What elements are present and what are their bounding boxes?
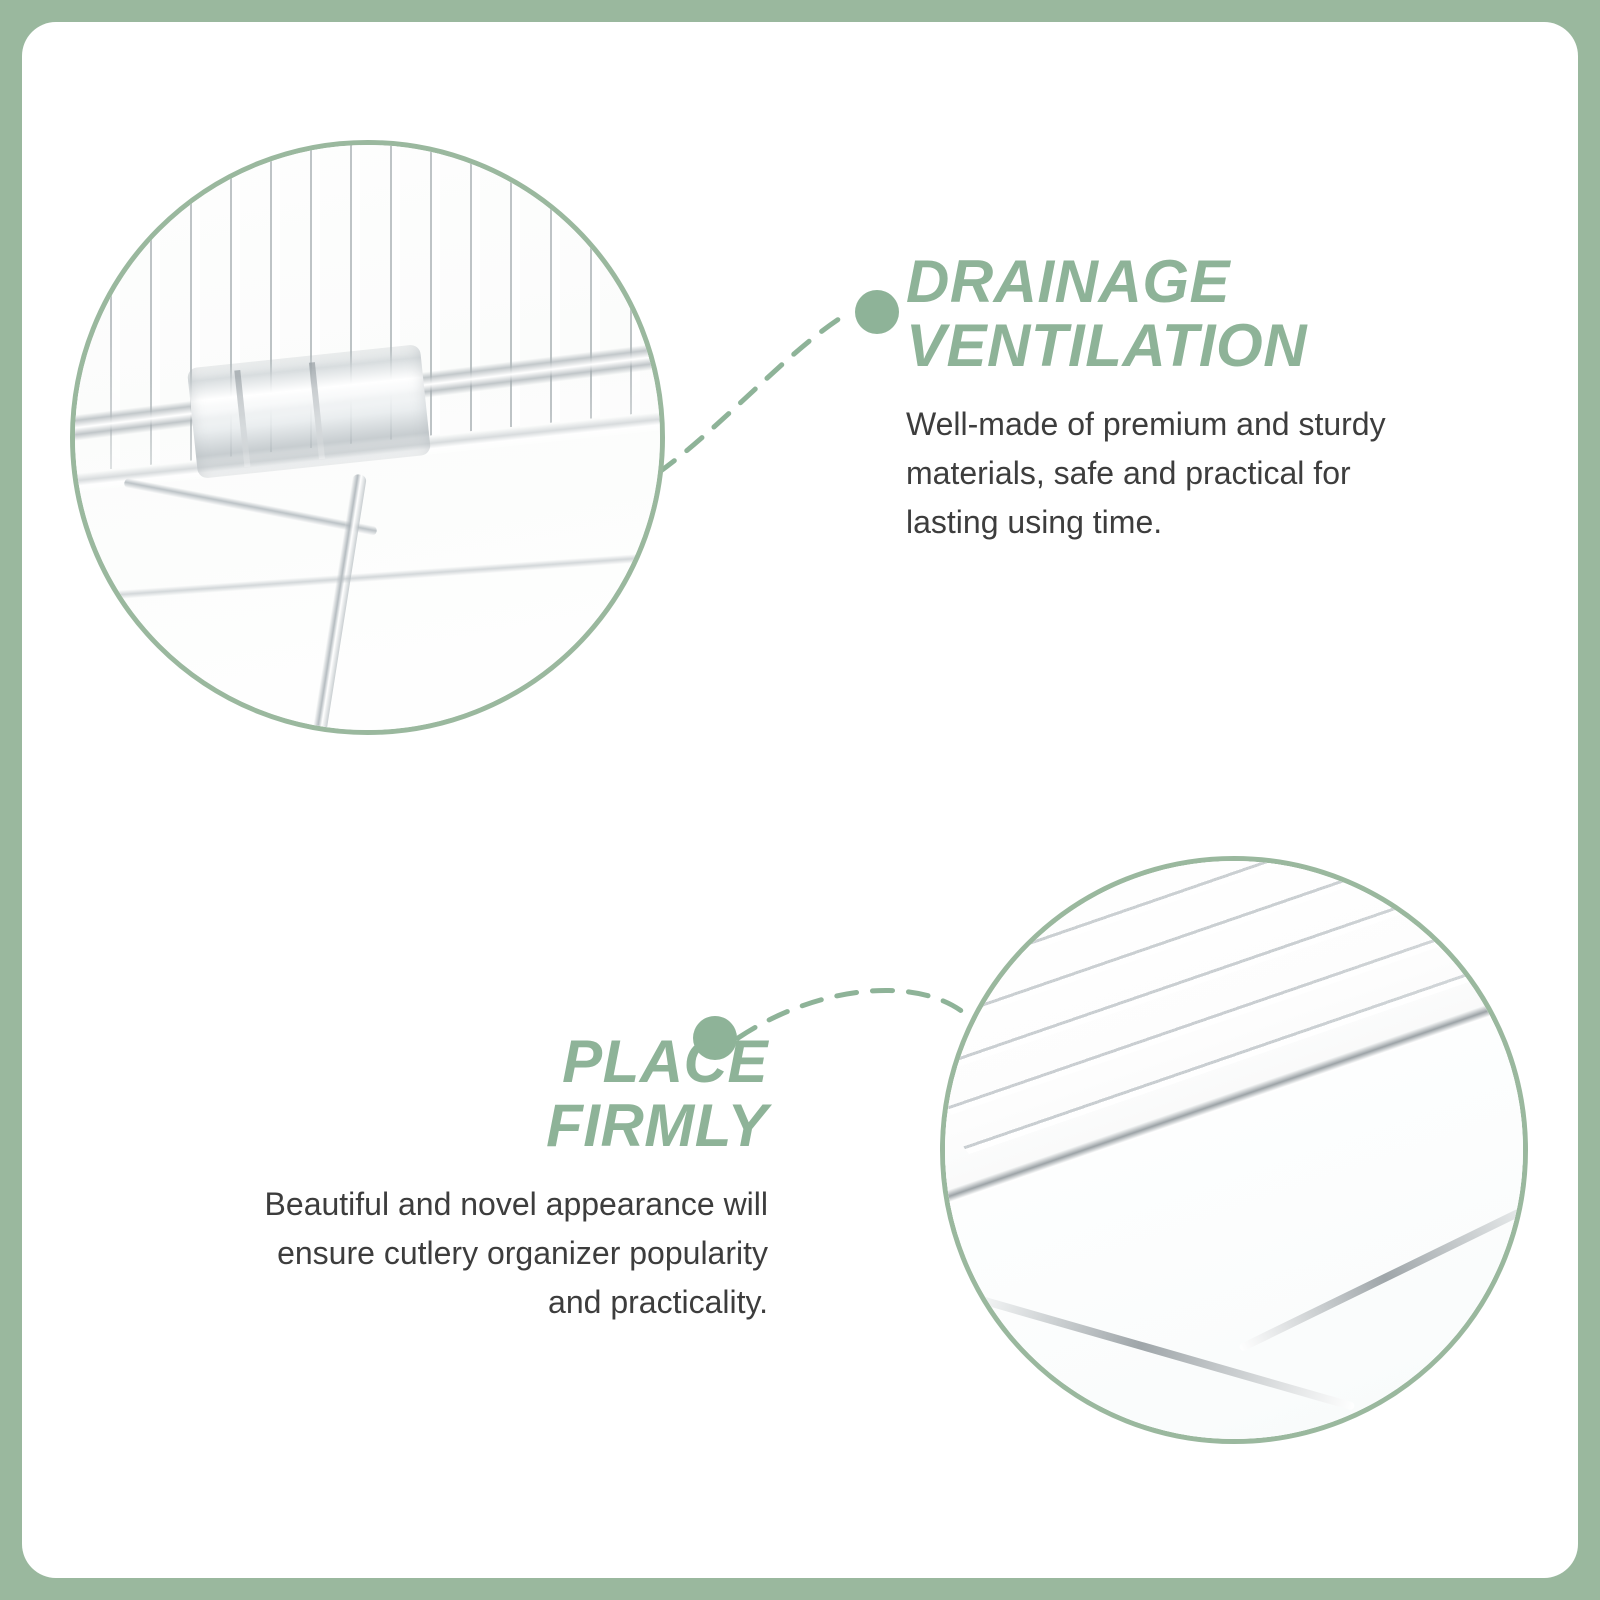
description-line: Beautiful and novel appearance will (172, 1180, 768, 1229)
poster-canvas: DRAINAGE VENTILATION Well-made of premiu… (0, 0, 1600, 1600)
feature-text-drainage-ventilation: DRAINAGE VENTILATION Well-made of premiu… (906, 250, 1466, 546)
headline-line: FIRMLY (172, 1094, 768, 1158)
description-line: ensure cutlery organizer popularity (172, 1229, 768, 1278)
white-panel: DRAINAGE VENTILATION Well-made of premiu… (22, 22, 1578, 1578)
feature-photo-drainage-ventilation (70, 140, 665, 735)
description-line: lasting using time. (906, 498, 1466, 547)
headline-line: PLACE (172, 1030, 768, 1094)
feature-headline-drainage-ventilation: DRAINAGE VENTILATION (906, 250, 1466, 378)
headline-line: VENTILATION (906, 314, 1466, 378)
feature-photo-place-firmly (940, 856, 1528, 1444)
feature-text-place-firmly: PLACE FIRMLY Beautiful and novel appeara… (172, 1030, 768, 1326)
feature-description-drainage-ventilation: Well-made of premium and sturdy material… (906, 378, 1466, 546)
node-dot-drainage-ventilation (855, 290, 899, 334)
description-line: materials, safe and practical for (906, 449, 1466, 498)
bin-surface-scuffs (945, 1394, 1321, 1439)
headline-line: DRAINAGE (906, 250, 1466, 314)
feature-description-place-firmly: Beautiful and novel appearance will ensu… (172, 1158, 768, 1326)
product-photo-lid-latch (75, 145, 660, 730)
product-photo-bin-corner (945, 861, 1523, 1439)
feature-headline-place-firmly: PLACE FIRMLY (172, 1030, 768, 1158)
connector-dashed-curve-bottom (738, 990, 974, 1038)
description-line: Well-made of premium and sturdy (906, 400, 1466, 449)
description-line: and practicality. (172, 1278, 768, 1327)
